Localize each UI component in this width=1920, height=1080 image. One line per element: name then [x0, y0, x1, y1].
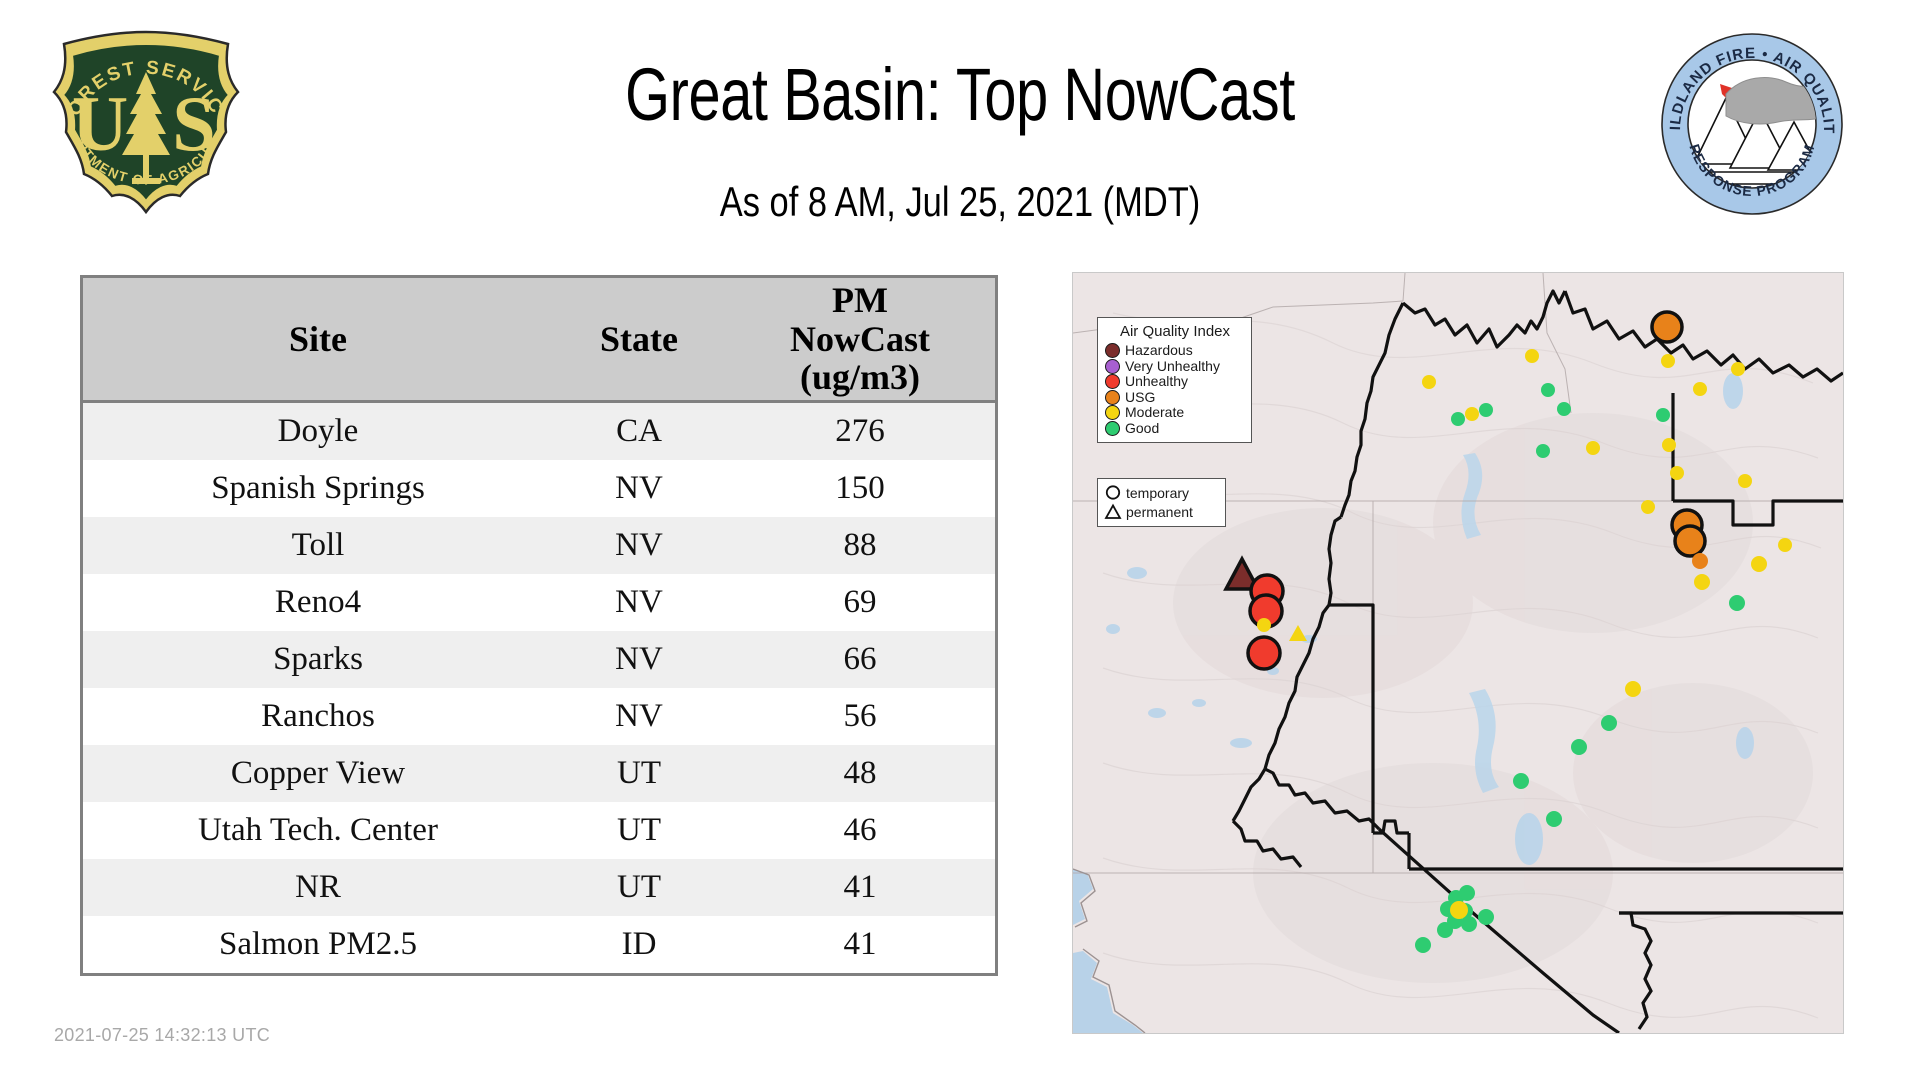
cell-state: UT	[553, 745, 725, 802]
aqi-legend-item: Very Unhealthy	[1105, 359, 1245, 375]
monitor-dot[interactable]	[1461, 916, 1477, 932]
table-header: Site State PM NowCast (ug/m3)	[82, 277, 997, 402]
cell-state: UT	[553, 859, 725, 916]
aqi-legend-label: Moderate	[1125, 405, 1184, 420]
cell-pm-nowcast: 46	[725, 802, 997, 859]
aqi-swatch-icon	[1105, 343, 1120, 358]
aqi-swatch-icon	[1105, 405, 1120, 420]
legend-row-permanent: permanent	[1104, 502, 1219, 521]
table-row: Spanish SpringsNV150	[82, 460, 997, 517]
monitor-dot[interactable]	[1536, 444, 1550, 458]
monitor-dot[interactable]	[1729, 595, 1745, 611]
monitor-dot[interactable]	[1459, 885, 1475, 901]
monitor-dot[interactable]	[1437, 922, 1453, 938]
pm-header-line-2: NowCast	[725, 320, 995, 359]
aqi-swatch-icon	[1105, 374, 1120, 389]
monitor-dot[interactable]	[1641, 500, 1655, 514]
air-quality-map[interactable]: Air Quality Index HazardousVery Unhealth…	[1072, 272, 1844, 1034]
table-row: RanchosNV56	[82, 688, 997, 745]
aqi-legend-item: Hazardous	[1105, 343, 1245, 359]
monitor-dot[interactable]	[1586, 441, 1600, 455]
legend-label-permanent: permanent	[1126, 504, 1193, 520]
monitor-dot[interactable]	[1662, 438, 1676, 452]
table-row: DoyleCA276	[82, 402, 997, 461]
aqi-legend-label: Hazardous	[1125, 343, 1193, 358]
aqi-legend-label: USG	[1125, 390, 1155, 405]
table-header-row: Site State PM NowCast (ug/m3)	[82, 277, 997, 402]
cell-site: Spanish Springs	[82, 460, 554, 517]
cell-site: Copper View	[82, 745, 554, 802]
aqi-legend-item: USG	[1105, 390, 1245, 406]
table-row: Copper ViewUT48	[82, 745, 997, 802]
cell-pm-nowcast: 69	[725, 574, 997, 631]
monitor-dot[interactable]	[1451, 412, 1465, 426]
monitor-dot[interactable]	[1557, 402, 1571, 416]
cell-site: NR	[82, 859, 554, 916]
monitor-dot[interactable]	[1257, 618, 1271, 632]
aqi-legend-title: Air Quality Index	[1105, 323, 1245, 340]
cell-site: Doyle	[82, 402, 554, 461]
aqi-legend-item: Good	[1105, 421, 1245, 437]
monitor-dot[interactable]	[1751, 556, 1767, 572]
monitor-dot[interactable]	[1661, 354, 1675, 368]
monitor-dot[interactable]	[1479, 403, 1493, 417]
monitor-dot[interactable]	[1694, 574, 1710, 590]
legend-label-temporary: temporary	[1126, 485, 1189, 501]
monitor-dot[interactable]	[1601, 715, 1617, 731]
permanent-triangle-icon	[1104, 503, 1122, 520]
monitor-dot[interactable]	[1541, 383, 1555, 397]
cell-state: NV	[553, 460, 725, 517]
table-row: SparksNV66	[82, 631, 997, 688]
cell-state: NV	[553, 574, 725, 631]
column-header-pm-nowcast: PM NowCast (ug/m3)	[725, 277, 997, 402]
monitor-dot[interactable]	[1465, 407, 1479, 421]
cell-site: Reno4	[82, 574, 554, 631]
page-title: Great Basin: Top NowCast	[211, 52, 1709, 137]
monitor-dot[interactable]	[1738, 474, 1752, 488]
monitor-dot[interactable]	[1778, 538, 1792, 552]
aqi-swatch-icon	[1105, 421, 1120, 436]
monitor-nr[interactable]	[1692, 553, 1708, 569]
cell-site: Ranchos	[82, 688, 554, 745]
table-body: DoyleCA276Spanish SpringsNV150TollNV88Re…	[82, 402, 997, 975]
generated-timestamp: 2021-07-25 14:32:13 UTC	[54, 1025, 270, 1046]
cell-pm-nowcast: 48	[725, 745, 997, 802]
monitor-dot[interactable]	[1625, 681, 1641, 697]
monitor-dot[interactable]	[1415, 937, 1431, 953]
table-row: Reno4NV69	[82, 574, 997, 631]
monitor-dot[interactable]	[1731, 362, 1745, 376]
aqi-legend: Air Quality Index HazardousVery Unhealth…	[1097, 317, 1252, 443]
cell-site: Toll	[82, 517, 554, 574]
cell-state: CA	[553, 402, 725, 461]
pm-header-line-3: (ug/m3)	[725, 358, 995, 397]
cell-site: Utah Tech. Center	[82, 802, 554, 859]
pm-header-line-1: PM	[725, 281, 995, 320]
temporary-circle-icon	[1104, 484, 1122, 501]
monitor-dot[interactable]	[1450, 901, 1468, 919]
cell-state: UT	[553, 802, 725, 859]
cell-pm-nowcast: 41	[725, 916, 997, 975]
cell-pm-nowcast: 276	[725, 402, 997, 461]
monitor-dot[interactable]	[1513, 773, 1529, 789]
monitor-dot[interactable]	[1525, 349, 1539, 363]
monitor-dot[interactable]	[1422, 375, 1436, 389]
aqi-legend-item: Unhealthy	[1105, 374, 1245, 390]
table-row: NRUT41	[82, 859, 997, 916]
cell-site: Sparks	[82, 631, 554, 688]
site-type-legend: temporary permanent	[1097, 478, 1226, 527]
monitor-sparks[interactable]	[1248, 637, 1280, 669]
cell-pm-nowcast: 88	[725, 517, 997, 574]
table-row: Utah Tech. CenterUT46	[82, 802, 997, 859]
legend-row-temporary: temporary	[1104, 483, 1219, 502]
aqi-legend-label: Unhealthy	[1125, 374, 1188, 389]
cell-state: ID	[553, 916, 725, 975]
cell-state: NV	[553, 517, 725, 574]
aqi-legend-item: Moderate	[1105, 405, 1245, 421]
aqi-legend-label: Good	[1125, 421, 1159, 436]
table-row: Salmon PM2.5ID41	[82, 916, 997, 975]
cell-pm-nowcast: 56	[725, 688, 997, 745]
cell-pm-nowcast: 41	[725, 859, 997, 916]
monitor-dot[interactable]	[1478, 909, 1494, 925]
cell-pm-nowcast: 150	[725, 460, 997, 517]
monitor-salmon[interactable]	[1652, 312, 1682, 342]
nowcast-table-container: Site State PM NowCast (ug/m3) DoyleCA276…	[80, 275, 992, 976]
monitor-dot[interactable]	[1656, 408, 1670, 422]
cell-site: Salmon PM2.5	[82, 916, 554, 975]
cell-state: NV	[553, 688, 725, 745]
nowcast-table: Site State PM NowCast (ug/m3) DoyleCA276…	[80, 275, 998, 976]
aqi-legend-label: Very Unhealthy	[1125, 359, 1220, 374]
page-subtitle: As of 8 AM, Jul 25, 2021 (MDT)	[173, 178, 1747, 226]
aqi-swatch-icon	[1105, 390, 1120, 405]
monitor-utah-tech-center[interactable]	[1675, 526, 1705, 556]
aqi-swatch-icon	[1105, 359, 1120, 374]
monitor-dot[interactable]	[1546, 811, 1562, 827]
aqi-legend-rows: HazardousVery UnhealthyUnhealthyUSGModer…	[1105, 343, 1245, 436]
monitor-dot[interactable]	[1670, 466, 1684, 480]
monitor-dot[interactable]	[1693, 382, 1707, 396]
column-header-site: Site	[82, 277, 554, 402]
table-row: TollNV88	[82, 517, 997, 574]
column-header-state: State	[553, 277, 725, 402]
monitor-dot[interactable]	[1571, 739, 1587, 755]
cell-pm-nowcast: 66	[725, 631, 997, 688]
cell-state: NV	[553, 631, 725, 688]
